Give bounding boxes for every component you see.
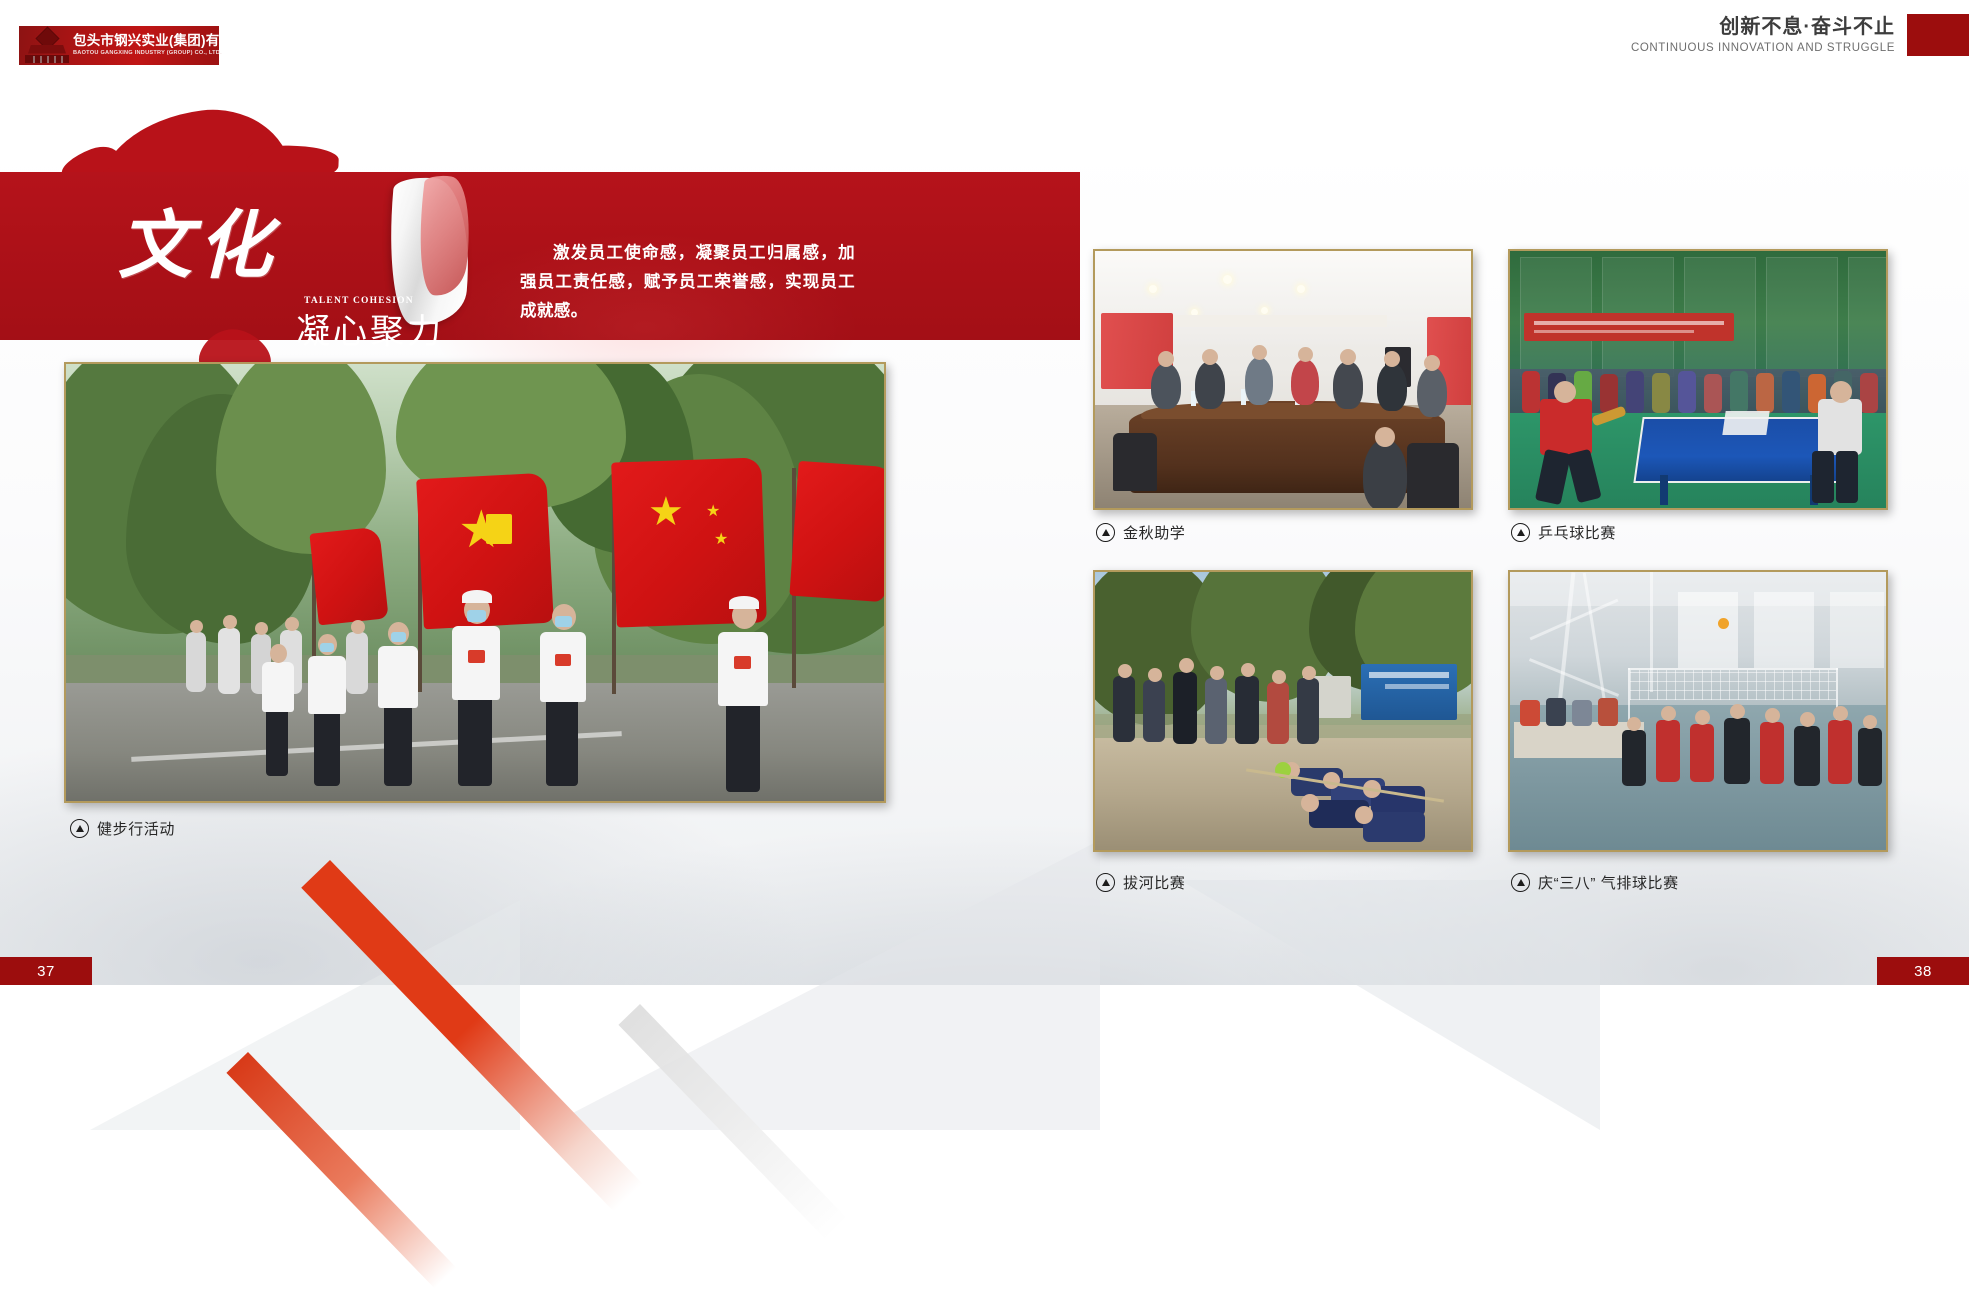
caption-marker-icon bbox=[70, 819, 89, 838]
photo-table-tennis bbox=[1508, 249, 1888, 510]
slogan-cn: 创新不息·奋斗不止 bbox=[1631, 14, 1895, 40]
caption-text: 拔河比赛 bbox=[1123, 872, 1185, 893]
company-name-en: BAOTOU GANGXING INDUSTRY (GROUP) CO., LT… bbox=[73, 49, 261, 58]
section-description: 激发员工使命感，凝聚员工归属感，加强员工责任感，赋予员工荣誉感，实现员工成就感。 bbox=[520, 238, 855, 325]
photo-tug-of-war bbox=[1093, 570, 1473, 852]
caption-marker-icon bbox=[1096, 523, 1115, 542]
photo-scholarship bbox=[1093, 249, 1473, 510]
photo-walking: ★ ★ ★ ★ bbox=[64, 362, 886, 803]
background-ridge bbox=[1180, 880, 1600, 1130]
caption-text: 健步行活动 bbox=[97, 818, 175, 839]
slogan-red-square bbox=[1907, 14, 1969, 56]
caption-text: 庆“三八” 气排球比赛 bbox=[1538, 872, 1679, 893]
section-title: 文化 bbox=[118, 208, 278, 286]
brochure-spread: 包头市钢兴实业(集团)有限公司 BAOTOU GANGXING INDUSTRY… bbox=[0, 0, 1969, 985]
caption-walking: 健步行活动 bbox=[70, 818, 175, 839]
page-number-right: 38 bbox=[1877, 957, 1969, 985]
gangxing-diamond-logo-icon bbox=[25, 28, 69, 64]
caption-table-tennis: 乒乓球比赛 bbox=[1511, 522, 1616, 543]
caption-volleyball: 庆“三八” 气排球比赛 bbox=[1511, 872, 1679, 893]
caption-marker-icon bbox=[1096, 873, 1115, 892]
section-subtitle: 凝心聚力 bbox=[296, 313, 444, 353]
caption-marker-icon bbox=[1511, 523, 1530, 542]
slogan-en: CONTINUOUS INNOVATION AND STRUGGLE bbox=[1631, 40, 1895, 57]
caption-text: 乒乓球比赛 bbox=[1538, 522, 1616, 543]
section-title-block: 文化 TALENT COHESION 凝心聚力 bbox=[118, 208, 278, 286]
header-slogan: 创新不息·奋斗不止 CONTINUOUS INNOVATION AND STRU… bbox=[1631, 14, 1969, 57]
background-ridge bbox=[540, 840, 1100, 1130]
company-name-cn: 包头市钢兴实业(集团)有限公司 bbox=[73, 33, 261, 49]
caption-marker-icon bbox=[1511, 873, 1530, 892]
page-number-left: 37 bbox=[0, 957, 92, 985]
section-title-en: TALENT COHESION bbox=[304, 296, 414, 306]
photo-volleyball bbox=[1508, 570, 1888, 852]
caption-scholarship: 金秋助学 bbox=[1096, 522, 1185, 543]
caption-tug-of-war: 拔河比赛 bbox=[1096, 872, 1185, 893]
caption-text: 金秋助学 bbox=[1123, 522, 1185, 543]
company-logo: 包头市钢兴实业(集团)有限公司 BAOTOU GANGXING INDUSTRY… bbox=[19, 26, 219, 65]
